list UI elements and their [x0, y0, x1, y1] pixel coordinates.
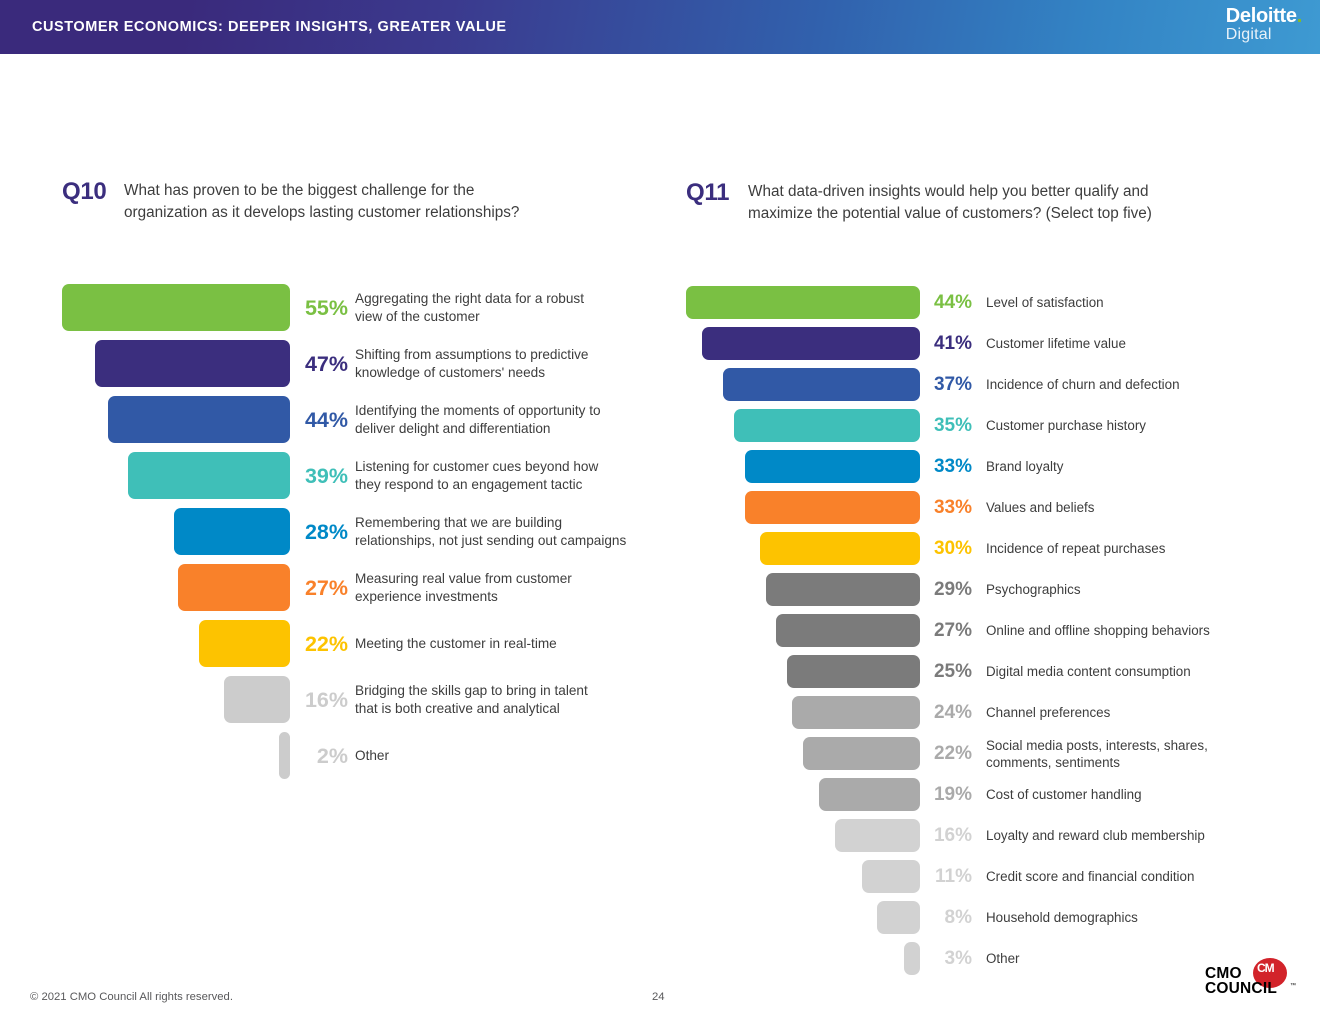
funnel-bar	[819, 778, 920, 811]
bar-category-label-line: Social media posts, interests, shares,	[986, 737, 1286, 754]
question-number-q11: Q11	[686, 179, 729, 207]
bar-category-label-line: Digital media content consumption	[986, 663, 1286, 680]
bar-category-label-line: Channel preferences	[986, 704, 1286, 721]
bar-category-label: Cost of customer handling	[986, 786, 1286, 803]
funnel-bar	[760, 532, 920, 565]
bar-category-label-line: Credit score and financial condition	[986, 868, 1286, 885]
bar-value-label: 27%	[926, 620, 972, 642]
bar-category-label-line: Customer purchase history	[986, 417, 1286, 434]
bar-value-label: 29%	[926, 579, 972, 601]
bar-value-label: 22%	[926, 743, 972, 765]
cmo-logo-line2: COUNCIL	[1205, 981, 1277, 996]
question-block-q11: Q11 What data-driven insights would help…	[686, 179, 1286, 229]
footer-copyright: © 2021 CMO Council All rights reserved.	[30, 991, 233, 1003]
bar-value-label: 16%	[926, 825, 972, 847]
cmo-logo-line1: CMO	[1205, 966, 1277, 981]
bar-category-label: Loyalty and reward club membership	[986, 827, 1286, 844]
bar-category-label-line: Level of satisfaction	[986, 294, 1286, 311]
bar-category-label: Incidence of repeat purchases	[986, 540, 1286, 557]
bar-value-label: 3%	[926, 948, 972, 970]
bar-category-label: Credit score and financial condition	[986, 868, 1286, 885]
funnel-bar	[776, 614, 920, 647]
deloitte-digital-logo: Deloitte. Digital	[1226, 6, 1302, 43]
bar-value-label: 41%	[926, 333, 972, 355]
bar-value-label: 33%	[926, 456, 972, 478]
question-text-q11-line1: What data-driven insights would help you…	[748, 181, 1149, 203]
funnel-bar	[723, 368, 920, 401]
bar-category-label-line: Psychographics	[986, 581, 1286, 598]
bar-category-label-line: Incidence of repeat purchases	[986, 540, 1286, 557]
cmo-council-logo: CM CMO COUNCIL ™	[1205, 958, 1305, 1004]
bar-category-label: Brand loyalty	[986, 458, 1286, 475]
bar-category-label-line: Values and beliefs	[986, 499, 1286, 516]
bar-category-label-line: Incidence of churn and defection	[986, 376, 1286, 393]
bar-value-label: 35%	[926, 415, 972, 437]
bar-category-label: Household demographics	[986, 909, 1286, 926]
deloitte-digital-subtext: Digital	[1226, 27, 1302, 43]
funnel-bar	[904, 942, 920, 975]
funnel-chart-q11: 44%Level of satisfaction41%Customer life…	[0, 0, 660, 1020]
funnel-bar	[702, 327, 920, 360]
bar-value-label: 24%	[926, 702, 972, 724]
bar-value-label: 25%	[926, 661, 972, 683]
bar-category-label: Online and offline shopping behaviors	[986, 622, 1286, 639]
bar-category-label-line: Brand loyalty	[986, 458, 1286, 475]
deloitte-wordmark-text: Deloitte	[1226, 5, 1297, 27]
bar-category-label: Incidence of churn and defection	[986, 376, 1286, 393]
bar-value-label: 19%	[926, 784, 972, 806]
funnel-bar	[835, 819, 920, 852]
bar-category-label-line: Cost of customer handling	[986, 786, 1286, 803]
funnel-bar	[862, 860, 921, 893]
bar-category-label-line: Household demographics	[986, 909, 1286, 926]
bar-value-label: 30%	[926, 538, 972, 560]
bar-category-label: Digital media content consumption	[986, 663, 1286, 680]
bar-category-label: Customer purchase history	[986, 417, 1286, 434]
bar-category-label: Channel preferences	[986, 704, 1286, 721]
bar-category-label-line: Online and offline shopping behaviors	[986, 622, 1286, 639]
funnel-bar	[745, 450, 921, 483]
funnel-bar	[745, 491, 921, 524]
deloitte-green-dot: .	[1297, 5, 1302, 27]
cmo-logo-trademark: ™	[1290, 983, 1296, 989]
funnel-bar	[686, 286, 920, 319]
bar-category-label: Values and beliefs	[986, 499, 1286, 516]
footer-page-number: 24	[652, 991, 665, 1003]
bar-category-label: Social media posts, interests, shares,co…	[986, 737, 1286, 771]
funnel-bar	[877, 901, 920, 934]
bar-category-label-line: Customer lifetime value	[986, 335, 1286, 352]
funnel-bar	[787, 655, 920, 688]
funnel-bar	[803, 737, 920, 770]
bar-category-label-line: comments, sentiments	[986, 754, 1286, 771]
bar-value-label: 33%	[926, 497, 972, 519]
bar-category-label: Customer lifetime value	[986, 335, 1286, 352]
bar-value-label: 11%	[926, 866, 972, 888]
bar-category-label-line: Loyalty and reward club membership	[986, 827, 1286, 844]
funnel-bar	[766, 573, 920, 606]
funnel-bar	[734, 409, 920, 442]
bar-value-label: 8%	[926, 907, 972, 929]
bar-category-label: Level of satisfaction	[986, 294, 1286, 311]
bar-value-label: 37%	[926, 374, 972, 396]
funnel-bar	[792, 696, 920, 729]
question-text-q11-line2: maximize the potential value of customer…	[748, 203, 1152, 225]
bar-value-label: 44%	[926, 292, 972, 314]
deloitte-wordmark: Deloitte.	[1226, 6, 1302, 26]
cmo-logo-wordmark: CMO COUNCIL	[1205, 966, 1277, 996]
bar-category-label: Psychographics	[986, 581, 1286, 598]
